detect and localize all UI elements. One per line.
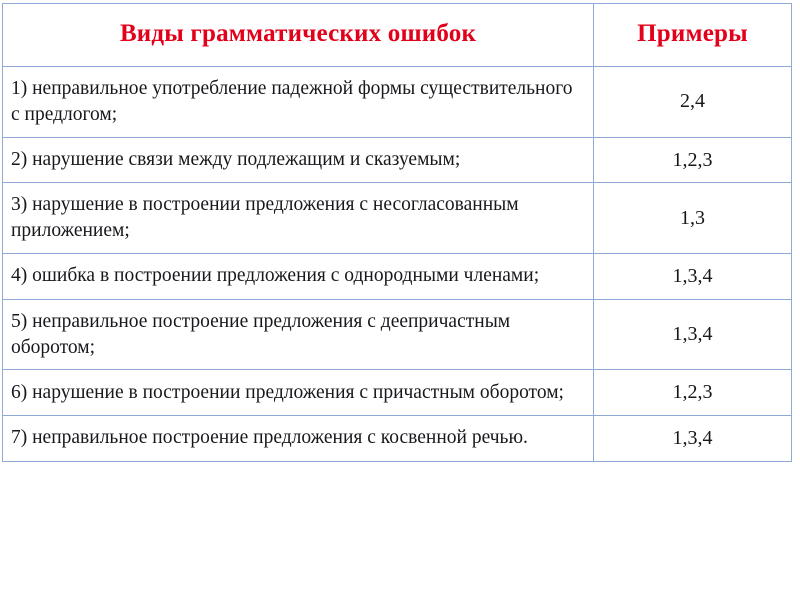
table-row: 3) нарушение в построении предложения с … [3, 183, 792, 254]
table-header: Виды грамматических ошибок Примеры [3, 4, 792, 67]
cell-example: 1,3,4 [594, 299, 792, 370]
cell-error-type: 1) неправильное употребление падежной фо… [3, 66, 594, 137]
column-header-examples: Примеры [594, 4, 792, 67]
table-row: 1) неправильное употребление падежной фо… [3, 66, 792, 137]
cell-example: 2,4 [594, 66, 792, 137]
cell-example: 1,3,4 [594, 254, 792, 300]
table-header-row: Виды грамматических ошибок Примеры [3, 4, 792, 67]
table-row: 6) нарушение в построении предложения с … [3, 370, 792, 416]
grammar-errors-table: Виды грамматических ошибок Примеры 1) не… [2, 3, 792, 462]
cell-error-type: 7) неправильное построение предложения с… [3, 416, 594, 462]
cell-error-type: 3) нарушение в построении предложения с … [3, 183, 594, 254]
table-row: 5) неправильное построение предложения с… [3, 299, 792, 370]
cell-error-type: 2) нарушение связи между подлежащим и ск… [3, 137, 594, 183]
cell-error-type: 4) ошибка в построении предложения с одн… [3, 254, 594, 300]
table-body: 1) неправильное употребление падежной фо… [3, 66, 792, 461]
table-row: 4) ошибка в построении предложения с одн… [3, 254, 792, 300]
cell-example: 1,3,4 [594, 416, 792, 462]
cell-example: 1,3 [594, 183, 792, 254]
cell-error-type: 5) неправильное построение предложения с… [3, 299, 594, 370]
cell-example: 1,2,3 [594, 137, 792, 183]
cell-error-type: 6) нарушение в построении предложения с … [3, 370, 594, 416]
table-row: 2) нарушение связи между подлежащим и ск… [3, 137, 792, 183]
column-header-error-types: Виды грамматических ошибок [3, 4, 594, 67]
cell-example: 1,2,3 [594, 370, 792, 416]
table-row: 7) неправильное построение предложения с… [3, 416, 792, 462]
